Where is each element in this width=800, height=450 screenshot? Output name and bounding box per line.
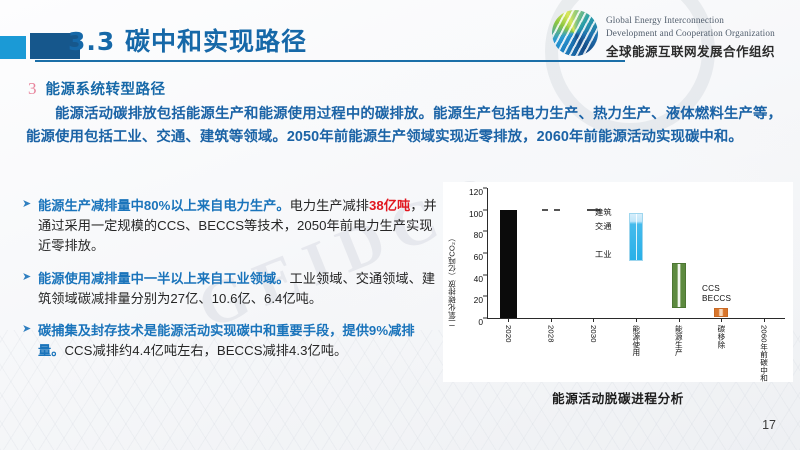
chart-y-tickmark-20 (483, 296, 487, 297)
organization-logo: Global Energy Interconnection Developmen… (552, 8, 796, 58)
arrow-bullet-icon: ➤ (22, 323, 31, 336)
chart-x-tick-label-3: 能源使用 (632, 325, 640, 356)
bullet-text-0: 能源生产减排量中80%以上来自电力生产。电力生产减排38亿吨，并通过采用一定规模… (38, 198, 437, 253)
chart-y-tick-60: 60 (474, 252, 483, 262)
bullet-0-run-0: 能源生产减排量中80%以上来自电力生产。 (38, 198, 290, 213)
chart-y-tickmark-0 (483, 318, 487, 319)
bullet-2-run-1: CCS减排约4.4亿吨左右，BECCS减排4.3亿吨。 (64, 343, 347, 358)
bullet-0-run-1: 电力生产减排 (290, 198, 369, 213)
chart-y-tick-100: 100 (469, 209, 483, 219)
chart-x-tickmark-5 (721, 318, 722, 322)
chart-annotation-BECCS: BECCS (702, 294, 731, 303)
chart-x-tickmark-4 (679, 318, 680, 322)
bullet-1-run-0: 能源使用减排量中一半以上来自工业领域。 (38, 271, 290, 286)
chart-bar-split (636, 214, 637, 260)
slide-header: 3.3 碳中和实现路径 Global Energy Interconnectio… (0, 0, 800, 68)
page-number: 17 (762, 418, 776, 432)
chart-x-tickmark-6 (764, 318, 765, 322)
chart-x-tick-label-5: 碳移除 (717, 325, 725, 348)
chart-x-tick-label-6: 2060年前碳中和 (760, 325, 768, 382)
title-underline (35, 60, 625, 62)
logo-chinese-line: 全球能源互联网发展合作组织 (606, 41, 775, 60)
bullet-list: ➤ 能源生产减排量中80%以上来自电力生产。电力生产减排38亿吨，并通过采用一定… (22, 196, 437, 373)
section-heading: 3 能源系统转型路径 (28, 78, 166, 99)
section-title: 能源系统转型路径 (46, 78, 166, 99)
chart-bar-碳移除 (714, 308, 728, 317)
chart-x-tickmark-2 (593, 318, 594, 322)
chart-annotation-建筑: 建筑 (595, 206, 612, 218)
list-item: ➤ 能源生产减排量中80%以上来自电力生产。电力生产减排38亿吨，并通过采用一定… (22, 196, 437, 257)
chart-bar-2028 (542, 209, 560, 211)
chart-y-tickmark-60 (483, 253, 487, 254)
chart-bar-2020 (500, 210, 517, 318)
chart-x-tick-label-4: 能源生产 (675, 325, 683, 356)
chart-y-tick-120: 120 (469, 187, 483, 197)
chart-y-tick-0: 0 (478, 317, 483, 327)
chart-x-tickmark-1 (551, 318, 552, 322)
list-item: ➤ 碳捕集及封存技术是能源活动实现碳中和重要手段，提供9%减排量。CCS减排约4… (22, 321, 437, 361)
chart-bar-能源使用 (629, 213, 643, 261)
logo-english-line-1: Global Energy Interconnection (606, 15, 724, 25)
chart-y-tickmark-40 (483, 274, 487, 275)
chart-y-tick-labels: 020406080100120 (457, 186, 483, 318)
chart-inner: 二氧化碳排放（亿吨CO₂） 020406080100120 建筑交通工业CCSB… (443, 182, 793, 382)
chart-annotation-CCS: CCS (702, 284, 720, 293)
chart-x-tick-label-0: 2020 (504, 325, 512, 343)
page-title: 3.3 碳中和实现路径 (68, 22, 307, 58)
logo-english-line-2: Development and Cooperation Organization (606, 28, 775, 38)
chart-y-tick-80: 80 (474, 230, 483, 240)
header-square-light (0, 36, 26, 59)
chart-y-tick-40: 40 (474, 274, 483, 284)
chart-x-tickmark-0 (508, 318, 509, 322)
chart-x-tick-label-1: 2028 (547, 325, 555, 343)
globe-icon (552, 10, 598, 56)
chart-annotation-工业: 工业 (595, 248, 612, 260)
chart-annotation-交通: 交通 (595, 220, 612, 232)
arrow-bullet-icon: ➤ (22, 198, 31, 211)
slide-canvas: GEIDCO 3.3 碳中和实现路径 Global Energy Interco… (0, 0, 800, 450)
chart-caption: 能源活动脱碳进程分析 (443, 388, 793, 407)
chart-panel: 二氧化碳排放（亿吨CO₂） 020406080100120 建筑交通工业CCSB… (443, 182, 793, 382)
chart-x-tick-label-2: 2030 (590, 325, 598, 343)
arrow-bullet-icon: ➤ (22, 271, 31, 284)
bullet-text-1: 能源使用减排量中一半以上来自工业领域。工业领域、交通领域、建筑领域碳减排量分别为… (38, 271, 435, 306)
chart-y-tickmark-80 (483, 231, 487, 232)
chart-y-tick-20: 20 (474, 295, 483, 305)
intro-paragraph: 能源活动碳排放包括能源生产和能源使用过程中的碳排放。能源生产包括电力生产、热力生… (26, 103, 782, 150)
bullet-text-2: 碳捕集及封存技术是能源活动实现碳中和重要手段，提供9%减排量。CCS减排约4.4… (38, 323, 415, 358)
section-number-icon: 3 (28, 80, 37, 97)
bullet-0-run-2: 38亿吨 (369, 198, 410, 213)
chart-y-tickmark-120 (483, 188, 487, 189)
chart-x-tickmark-3 (636, 318, 637, 322)
chart-y-tickmark-100 (483, 209, 487, 210)
chart-plot-area: 建筑交通工业CCSBECCS (487, 188, 785, 318)
list-item: ➤ 能源使用减排量中一半以上来自工业领域。工业领域、交通领域、建筑领域碳减排量分… (22, 269, 437, 309)
chart-bar-能源生产 (672, 263, 686, 309)
